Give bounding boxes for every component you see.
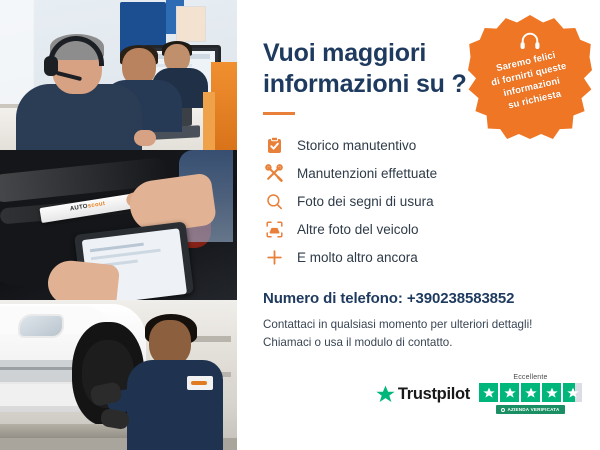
promo-banner: AUTOscout <box>0 0 600 450</box>
title-line-2: informazioni su ? <box>263 69 478 100</box>
inspector-hand-lower <box>46 258 120 300</box>
contact-subtext: Contattaci in qualsiasi momento per ulte… <box>263 316 574 352</box>
contact-subtext-line-1: Contattaci in qualsiasi momento per ulte… <box>263 316 574 334</box>
wall-poster <box>176 6 206 42</box>
feature-item-altre-foto: Altre foto del veicolo <box>263 215 574 243</box>
star-filled <box>521 383 540 402</box>
star-filled <box>479 383 498 402</box>
ruler-brand-label: AUTOscout <box>70 201 106 212</box>
tools-cross-icon <box>263 163 285 183</box>
verified-label: AZIENDA VERIFICATA <box>507 407 559 412</box>
feature-label: Storico manutentivo <box>297 138 416 153</box>
feature-list: Storico manutentivo Manutenzioni effettu… <box>263 131 574 271</box>
feature-label: E molto altro ancora <box>297 250 418 265</box>
feature-label: Foto dei segni di usura <box>297 194 434 209</box>
star-filled <box>500 383 519 402</box>
foreground-agent <box>22 38 132 150</box>
title-line-1: Vuoi maggiori <box>263 38 478 69</box>
trustpilot-rating: Eccellente AZIENDA VERIFICATA <box>479 374 582 414</box>
trustpilot-star-icon <box>376 385 395 404</box>
orange-equipment-edge-2 <box>203 92 215 150</box>
title-underline-rule <box>263 112 295 115</box>
content-panel: Saremo felici di fornirti queste informa… <box>237 0 600 450</box>
feature-label: Manutenzioni effettuate <box>297 166 437 181</box>
car-headlight <box>18 314 64 338</box>
feature-label: Altre foto del veicolo <box>297 222 419 237</box>
hand <box>134 130 156 146</box>
page-title: Vuoi maggiori informazioni su ? <box>263 38 478 99</box>
scan-car-icon <box>263 219 285 239</box>
magnifier-icon <box>263 191 285 211</box>
mechanic-wheel-check-photo <box>0 300 237 450</box>
trustpilot-logo: Trustpilot <box>376 385 470 404</box>
badge-text: Saremo felici di fornirti queste informa… <box>487 47 574 115</box>
star-rating <box>479 383 582 402</box>
headset-icon <box>519 31 541 51</box>
verified-company-badge: AZIENDA VERIFICATA <box>496 405 564 414</box>
mechanic <box>121 318 227 450</box>
contact-subtext-line-2: Chiamaci o usa il modulo di contatto. <box>263 334 574 352</box>
plus-icon <box>263 247 285 267</box>
phone-line: Numero di telefono: +390238583852 <box>263 290 574 307</box>
feature-item-manutenzioni: Manutenzioni effettuate <box>263 159 574 187</box>
callout-badge: Saremo felici di fornirti queste informa… <box>468 15 592 139</box>
photo-column: AUTOscout <box>0 0 237 450</box>
uniform-logo-patch <box>187 376 213 390</box>
rating-word: Eccellente <box>513 374 547 381</box>
phone-number[interactable]: +390238583852 <box>407 290 515 307</box>
star-filled <box>542 383 561 402</box>
trustpilot-widget[interactable]: Trustpilot Eccellente AZIENDA VERIFICATA <box>376 374 582 414</box>
star-partial <box>563 383 582 402</box>
feature-item-altro: E molto altro ancora <box>263 243 574 271</box>
trustpilot-wordmark: Trustpilot <box>398 385 470 404</box>
verified-check-icon <box>501 408 505 412</box>
feature-item-foto-usura: Foto dei segni di usura <box>263 187 574 215</box>
call-center-agents-photo <box>0 0 237 150</box>
phone-label: Numero di telefono: <box>263 290 403 307</box>
clipboard-check-icon <box>263 135 285 155</box>
vehicle-inspection-ruler-photo: AUTOscout <box>0 150 237 300</box>
